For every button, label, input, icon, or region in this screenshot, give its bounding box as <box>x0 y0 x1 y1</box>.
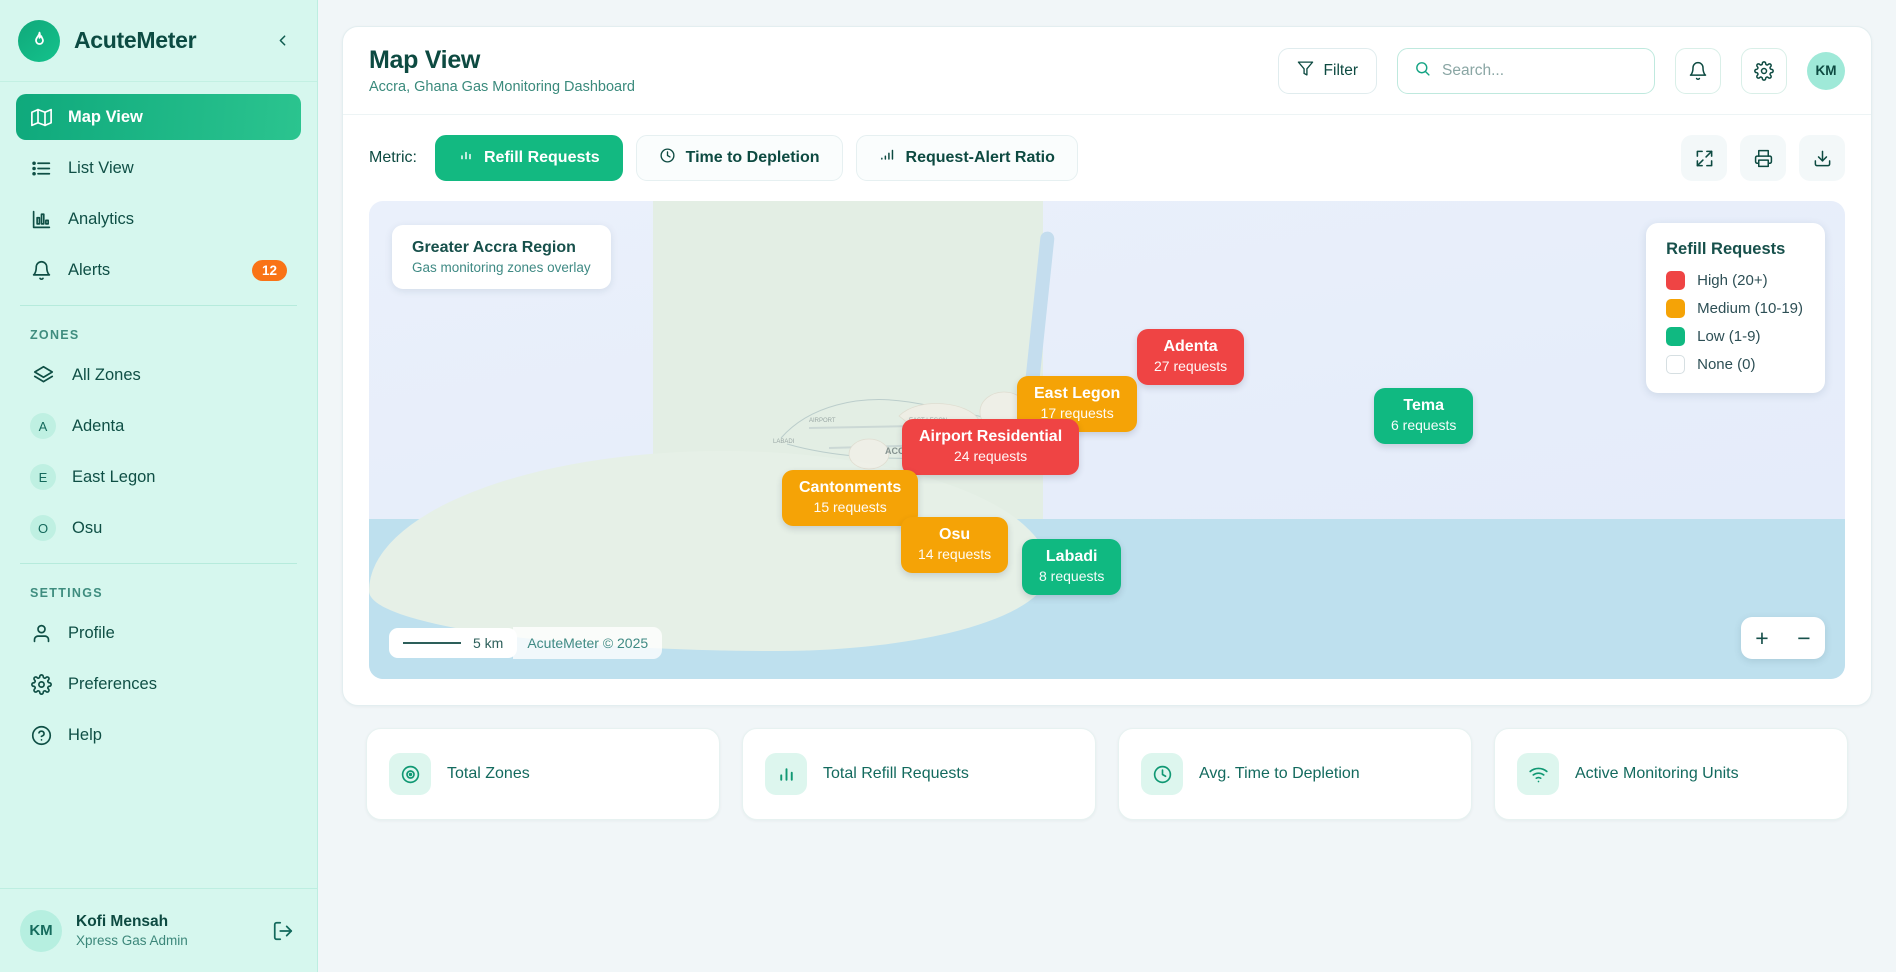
map-marker-labadi[interactable]: Labadi 8 requests <box>1022 539 1121 595</box>
search-box[interactable] <box>1397 48 1655 94</box>
sidebar-item-label: Alerts <box>68 261 110 280</box>
overlay-card-subtitle: Gas monitoring zones overlay <box>412 260 591 275</box>
legend-swatch <box>1666 355 1685 374</box>
tab-refill-requests[interactable]: Refill Requests <box>435 135 623 181</box>
avatar: KM <box>20 910 62 952</box>
main-content: Map View Accra, Ghana Gas Monitoring Das… <box>318 0 1896 972</box>
bar-chart-icon <box>458 148 474 169</box>
target-icon <box>389 753 431 795</box>
tab-request-alert-ratio[interactable]: Request-Alert Ratio <box>856 135 1078 181</box>
marker-name: Adenta <box>1154 337 1227 357</box>
sidebar-header: AcuteMeter <box>0 0 317 82</box>
marker-value: 14 requests <box>918 545 991 564</box>
legend-item-none: None (0) <box>1666 355 1803 374</box>
metric-toolbar: Metric: Refill Requests Time to Depletio… <box>343 115 1871 201</box>
sidebar-item-preferences[interactable]: Preferences <box>16 661 301 707</box>
zone-initial: E <box>30 466 56 488</box>
marker-name: Cantonments <box>799 478 901 498</box>
user-name: Kofi Mensah <box>76 913 255 931</box>
zone-initial-letter: A <box>30 413 56 439</box>
settings-button[interactable] <box>1741 48 1787 94</box>
sidebar-item-label: Analytics <box>68 210 134 229</box>
map-marker-adenta[interactable]: Adenta 27 requests <box>1137 329 1244 385</box>
clock-icon <box>659 147 676 169</box>
legend-item-high: High (20+) <box>1666 271 1803 290</box>
zone-initial: A <box>30 415 56 437</box>
chevron-left-icon[interactable] <box>269 28 295 54</box>
marker-value: 24 requests <box>919 447 1062 466</box>
svg-text:AIRPORT: AIRPORT <box>809 418 836 424</box>
title-block: Map View Accra, Ghana Gas Monitoring Das… <box>369 46 1258 95</box>
zone-initial-letter: O <box>30 515 56 541</box>
divider <box>20 305 297 306</box>
funnel-icon <box>1297 60 1314 82</box>
sidebar-item-profile[interactable]: Profile <box>16 610 301 656</box>
map-marker-airport-residential[interactable]: Airport Residential 24 requests <box>902 419 1079 475</box>
zoom-out-button[interactable]: − <box>1783 617 1825 659</box>
sidebar-item-all-zones[interactable]: All Zones <box>16 352 301 398</box>
filter-label: Filter <box>1324 62 1358 80</box>
map-zoom-controls: + − <box>1741 617 1825 659</box>
search-icon <box>1414 60 1431 82</box>
bell-icon <box>30 259 52 281</box>
map-panel: Map View Accra, Ghana Gas Monitoring Das… <box>342 26 1872 706</box>
stats-row: Total Zones Total Refill Requests Avg. T… <box>342 728 1872 820</box>
bell-icon <box>1688 61 1708 81</box>
marker-name: Labadi <box>1039 547 1104 567</box>
gear-icon <box>30 673 52 695</box>
marker-name: Tema <box>1391 396 1456 416</box>
overlay-card-title: Greater Accra Region <box>412 239 591 257</box>
bar-chart-icon <box>765 753 807 795</box>
map-icon <box>30 106 52 128</box>
stat-label: Active Monitoring Units <box>1575 765 1739 783</box>
user-icon <box>30 622 52 644</box>
stat-card-total-refill-requests[interactable]: Total Refill Requests <box>742 728 1096 820</box>
legend-label: High (20+) <box>1697 272 1767 289</box>
filter-button[interactable]: Filter <box>1278 48 1377 94</box>
marker-value: 15 requests <box>799 498 901 517</box>
marker-name: East Legon <box>1034 384 1120 404</box>
scale-pill: 5 km <box>389 628 517 658</box>
divider <box>20 563 297 564</box>
signal-icon <box>879 147 896 169</box>
legend-label: Medium (10-19) <box>1697 300 1803 317</box>
map-canvas[interactable]: AIRPORT EAST LEGON CANTONMENTS LABADI AC… <box>369 201 1845 679</box>
sidebar-item-alerts[interactable]: Alerts 12 <box>16 247 301 293</box>
page-header: Map View Accra, Ghana Gas Monitoring Das… <box>343 27 1871 115</box>
page-title: Map View <box>369 46 1258 75</box>
expand-icon <box>1695 149 1714 168</box>
sidebar-item-help[interactable]: Help <box>16 712 301 758</box>
map-legend: Refill Requests High (20+) Medium (10-19… <box>1646 223 1825 393</box>
legend-label: Low (1-9) <box>1697 328 1760 345</box>
map-scale: 5 km AcuteMeter © 2025 <box>389 627 662 659</box>
sidebar: AcuteMeter Map View List View <box>0 0 318 972</box>
stat-card-active-monitoring-units[interactable]: Active Monitoring Units <box>1494 728 1848 820</box>
wifi-icon <box>1517 753 1559 795</box>
map-marker-cantonments[interactable]: Cantonments 15 requests <box>782 470 918 526</box>
flame-icon <box>18 20 60 62</box>
tab-label: Time to Depletion <box>686 149 820 167</box>
sidebar-item-label: Help <box>68 726 102 745</box>
svg-text:LABADI: LABADI <box>773 439 795 445</box>
sidebar-item-label: All Zones <box>72 366 141 385</box>
sidebar-item-label: Profile <box>68 624 115 643</box>
sidebar-item-label: List View <box>68 159 134 178</box>
user-meta: Kofi Mensah Xpress Gas Admin <box>76 913 255 948</box>
sidebar-item-label: Osu <box>72 519 102 538</box>
map-overlay-card: Greater Accra Region Gas monitoring zone… <box>392 225 611 289</box>
app-root: AcuteMeter Map View List View <box>0 0 1896 972</box>
map-marker-tema[interactable]: Tema 6 requests <box>1374 388 1473 444</box>
sidebar-item-east-legon[interactable]: E East Legon <box>16 454 301 500</box>
metric-label: Metric: <box>369 149 417 167</box>
zoom-in-button[interactable]: + <box>1741 617 1783 659</box>
sidebar-item-osu[interactable]: O Osu <box>16 505 301 551</box>
download-button[interactable] <box>1799 135 1845 181</box>
legend-swatch <box>1666 271 1685 290</box>
legend-label: None (0) <box>1697 356 1755 373</box>
marker-value: 6 requests <box>1391 416 1456 435</box>
avatar[interactable]: KM <box>1807 52 1845 90</box>
sidebar-item-list-view[interactable]: List View <box>16 145 301 191</box>
layers-icon <box>30 364 56 386</box>
marker-name: Osu <box>918 525 991 545</box>
sidebar-item-label: Adenta <box>72 417 124 436</box>
map-attribution: AcuteMeter © 2025 <box>513 627 662 659</box>
sidebar-item-adenta[interactable]: A Adenta <box>16 403 301 449</box>
stat-label: Avg. Time to Depletion <box>1199 765 1360 783</box>
fullscreen-button[interactable] <box>1681 135 1727 181</box>
sidebar-item-analytics[interactable]: Analytics <box>16 196 301 242</box>
sidebar-user-footer[interactable]: KM Kofi Mensah Xpress Gas Admin <box>0 888 317 972</box>
clock-icon <box>1141 753 1183 795</box>
printer-icon <box>1754 149 1773 168</box>
scale-label: 5 km <box>473 635 503 651</box>
gear-icon <box>1754 61 1774 81</box>
download-icon <box>1813 149 1832 168</box>
notifications-button[interactable] <box>1675 48 1721 94</box>
legend-item-low: Low (1-9) <box>1666 327 1803 346</box>
marker-value: 27 requests <box>1154 357 1227 376</box>
sidebar-nav: Map View List View Analytics Alerts <box>0 82 317 888</box>
tab-label: Request-Alert Ratio <box>906 149 1055 167</box>
legend-title: Refill Requests <box>1666 240 1803 259</box>
stat-label: Total Zones <box>447 765 530 783</box>
stat-label: Total Refill Requests <box>823 765 969 783</box>
zone-initial-letter: E <box>30 464 56 490</box>
marker-name: Airport Residential <box>919 427 1062 447</box>
legend-swatch <box>1666 327 1685 346</box>
stat-card-total-zones[interactable]: Total Zones <box>366 728 720 820</box>
legend-item-medium: Medium (10-19) <box>1666 299 1803 318</box>
print-button[interactable] <box>1740 135 1786 181</box>
user-role: Xpress Gas Admin <box>76 933 255 948</box>
stat-card-avg-time-to-depletion[interactable]: Avg. Time to Depletion <box>1118 728 1472 820</box>
settings-section-title: SETTINGS <box>16 576 301 610</box>
tab-time-to-depletion[interactable]: Time to Depletion <box>636 135 843 181</box>
alerts-badge: 12 <box>252 260 287 281</box>
legend-swatch <box>1666 299 1685 318</box>
map-marker-osu[interactable]: Osu 14 requests <box>901 517 1008 573</box>
brand-name: AcuteMeter <box>74 27 255 54</box>
sidebar-item-map-view[interactable]: Map View <box>16 94 301 140</box>
page-subtitle: Accra, Ghana Gas Monitoring Dashboard <box>369 79 1258 95</box>
scale-line <box>403 642 461 645</box>
tab-label: Refill Requests <box>484 149 600 167</box>
help-circle-icon <box>30 724 52 746</box>
sidebar-item-label: Map View <box>68 108 143 127</box>
marker-value: 8 requests <box>1039 567 1104 586</box>
sidebar-item-label: Preferences <box>68 675 157 694</box>
sidebar-item-label: East Legon <box>72 468 155 487</box>
search-input[interactable] <box>1442 62 1638 80</box>
zone-initial: O <box>30 517 56 539</box>
logout-icon[interactable] <box>269 917 297 945</box>
zones-section-title: ZONES <box>16 318 301 352</box>
bar-chart-icon <box>30 208 52 230</box>
list-icon <box>30 157 52 179</box>
map-container: AIRPORT EAST LEGON CANTONMENTS LABADI AC… <box>343 201 1871 705</box>
